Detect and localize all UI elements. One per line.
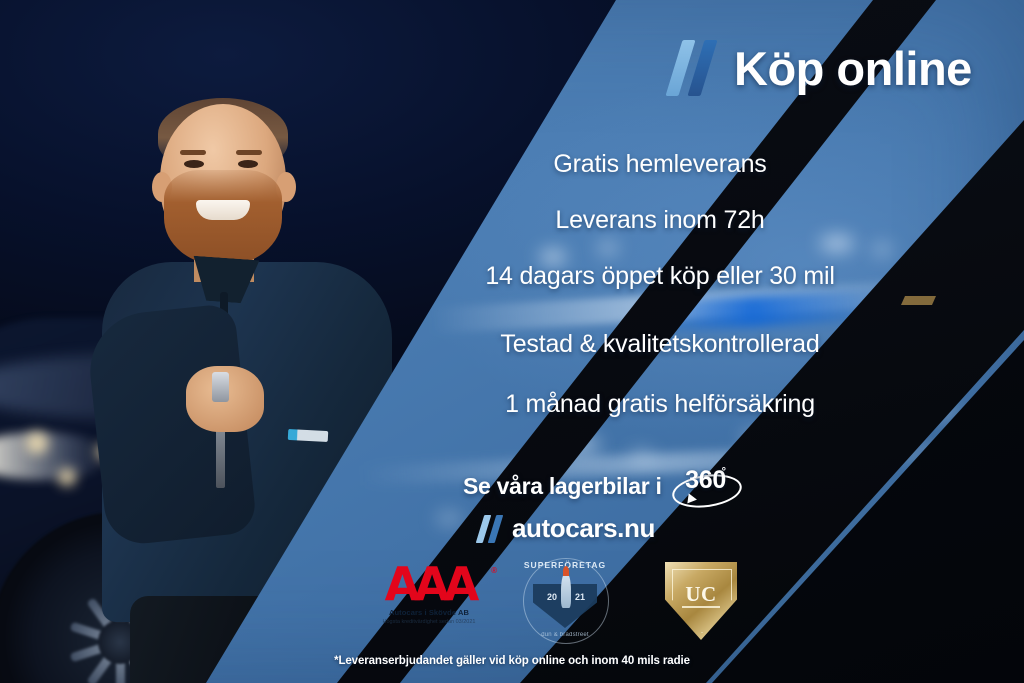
list-item: Leverans inom 72h	[360, 206, 960, 235]
page-title: Köp online	[734, 45, 972, 92]
cta-block[interactable]: Se våra lagerbilar i 360 ° autocars.nu	[463, 466, 738, 544]
headline-row: Köp online	[672, 40, 972, 96]
cta-url-row[interactable]: autocars.nu	[479, 513, 738, 544]
registered-trademark-icon: ®	[491, 566, 497, 575]
disclaimer-text: *Leveranserbjudandet gäller vid köp onli…	[0, 655, 1024, 667]
rocket-icon	[561, 572, 571, 608]
cta-text: Se våra lagerbilar i	[463, 473, 662, 500]
cta-line-1: Se våra lagerbilar i 360 °	[463, 466, 738, 506]
aaa-wordmark: AAA	[365, 564, 493, 605]
badge-year-left: 20	[547, 592, 557, 602]
degree-symbol: °	[722, 466, 726, 478]
promo-banner: Köp online Gratis hemleverans Leverans i…	[0, 0, 1024, 683]
double-slash-icon	[672, 40, 720, 96]
list-item: Gratis hemleverans	[360, 150, 960, 179]
aaa-rating-text: Högsta kreditvärdighet sedan 03/2021	[365, 619, 493, 626]
website-url[interactable]: autocars.nu	[512, 513, 655, 544]
list-item: 14 dagars öppet köp eller 30 mil	[360, 262, 960, 291]
superforetag-badge: SUPERFÖRETAG 20 21 dun & bradstreet	[517, 556, 613, 648]
logo-strip: AAA ® Autocars i Skövde AB Högsta kredit…	[355, 556, 755, 648]
double-slash-icon-small	[479, 515, 505, 543]
promo-content: Köp online Gratis hemleverans Leverans i…	[0, 0, 1024, 683]
badge-year-right: 21	[575, 592, 585, 602]
uc-logo: UC	[660, 560, 742, 644]
list-item: Testad & kvalitetskontrollerad	[360, 330, 960, 359]
uc-underline	[682, 606, 720, 608]
badge-source: dun & bradstreet	[517, 632, 613, 638]
uc-wordmark: UC	[665, 582, 737, 607]
three-sixty-icon: 360 °	[672, 466, 738, 506]
list-item: 1 månad gratis helförsäkring	[360, 390, 960, 419]
rocket-nose-icon	[563, 566, 569, 576]
aaa-logo: AAA ® Autocars i Skövde AB Högsta kredit…	[365, 564, 493, 627]
